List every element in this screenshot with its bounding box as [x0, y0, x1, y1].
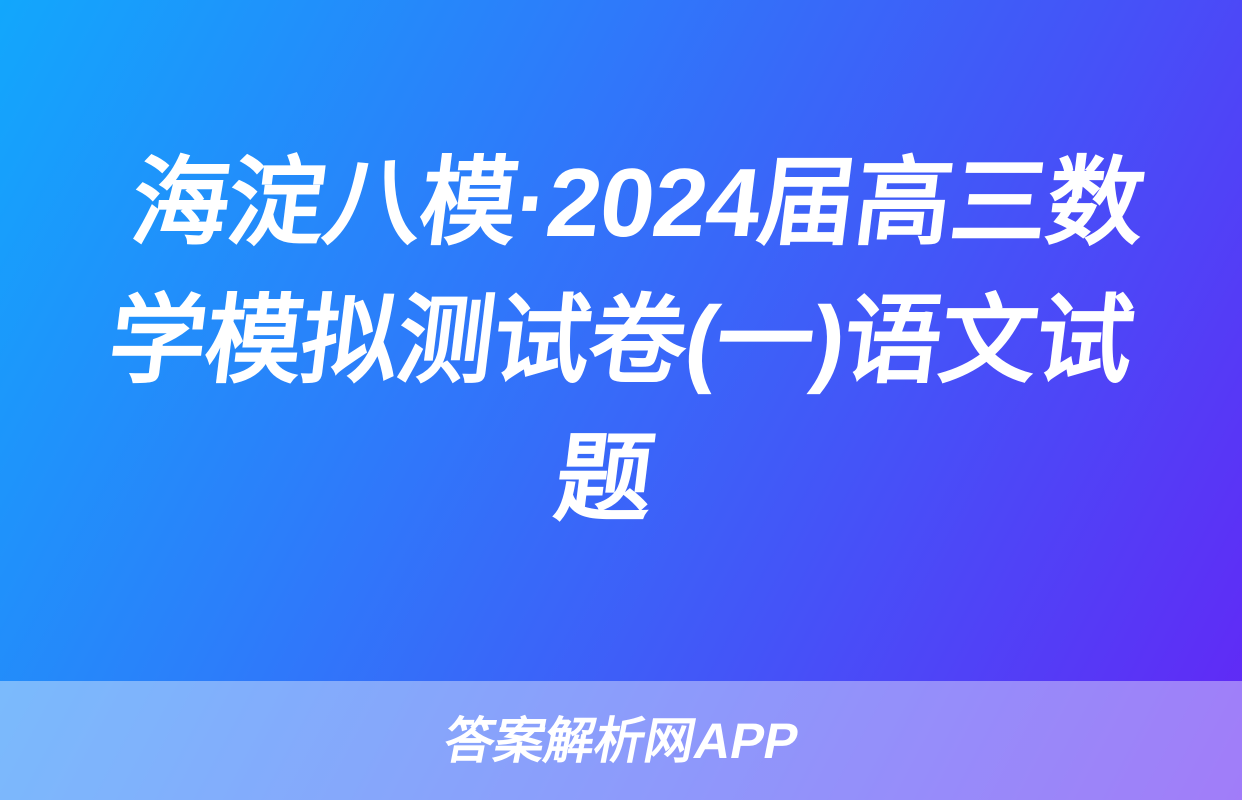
app-watermark-band: 答案解析网APP — [0, 681, 1242, 800]
hero-title-area: 海淀八模·2024届高三数学模拟测试卷(一)语文试题 — [0, 0, 1242, 681]
page-title: 海淀八模·2024届高三数学模拟测试卷(一)语文试题 — [53, 134, 1190, 548]
app-brand-label: 答案解析网APP — [440, 716, 803, 766]
exam-cover-card: 海淀八模·2024届高三数学模拟测试卷(一)语文试题 答案解析网APP — [0, 0, 1242, 800]
